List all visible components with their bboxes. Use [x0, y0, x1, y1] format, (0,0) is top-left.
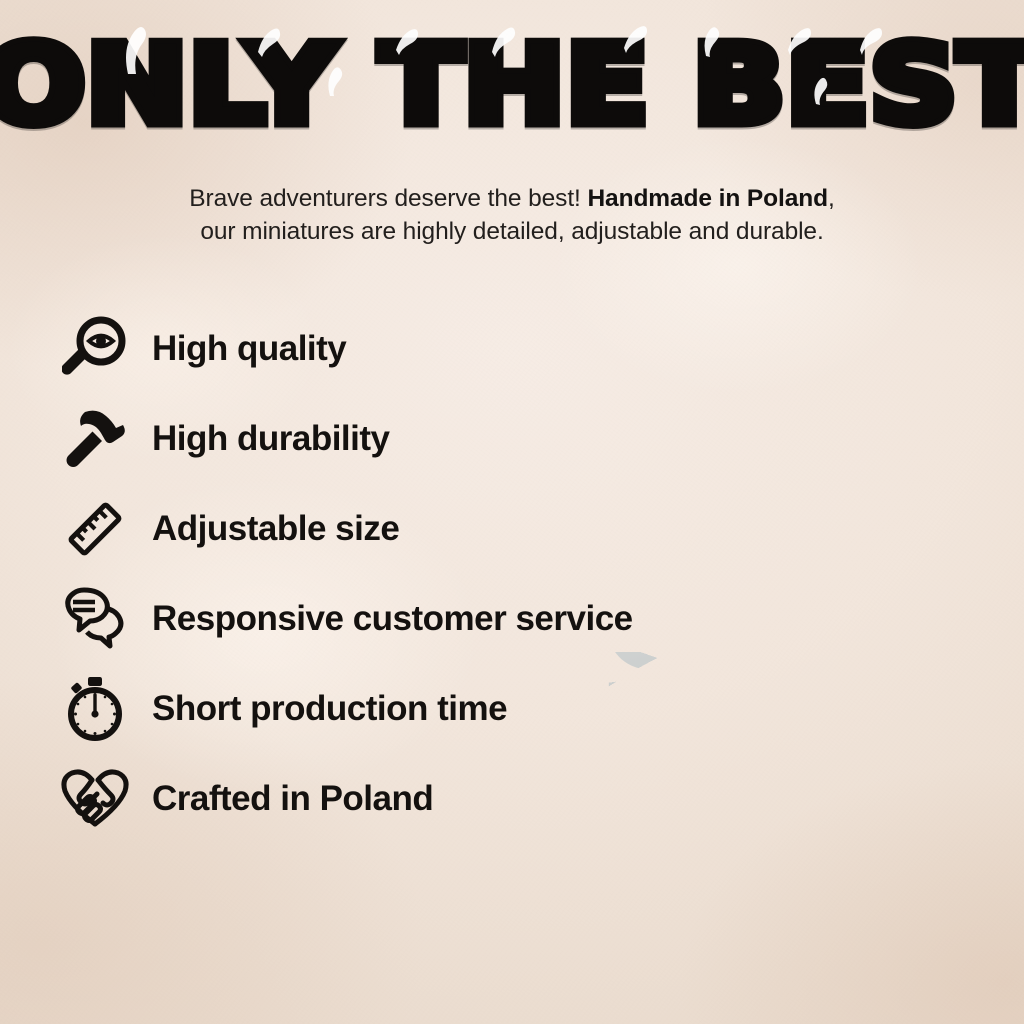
debris [896, 968, 922, 980]
speech-bubbles-icon [58, 582, 132, 656]
promo-poster: ONLY THE BEST Brave adventurers deserve … [0, 0, 1024, 1024]
feature-label: High durability [152, 419, 390, 459]
subtitle-tail: , [828, 185, 835, 212]
ruler-icon [58, 492, 132, 566]
flexing-miniature-photo [520, 278, 1024, 608]
tray-contents [853, 695, 993, 715]
painting-miniature-photo-content [596, 652, 1024, 1024]
headline-container: ONLY THE BEST [0, 34, 1024, 138]
hammer-icon [58, 402, 132, 476]
handshake-heart-icon [58, 762, 132, 836]
workshop-scene [596, 652, 1024, 1024]
subtitle-lead: Brave adventurers deserve the best! [189, 185, 587, 212]
magnifier-eye-icon [58, 312, 132, 386]
subtitle-emphasis: Handmade in Poland [587, 185, 828, 212]
dragon-miniature [708, 740, 858, 868]
subtitle-line2: our miniatures are highly detailed, adju… [200, 218, 823, 245]
feature-label: Crafted in Poland [152, 779, 433, 819]
stopwatch-icon [58, 672, 132, 746]
subtitle: Brave adventurers deserve the best! Hand… [0, 183, 1024, 248]
feature-label: Short production time [152, 689, 507, 729]
page-title: ONLY THE BEST [0, 34, 1024, 138]
feature-label: Adjustable size [152, 509, 399, 549]
feature-label: High quality [152, 329, 346, 369]
flexing-miniature-photo-content [520, 278, 1024, 608]
debris [978, 948, 998, 959]
miniature-tray [848, 692, 998, 718]
debris [940, 934, 956, 944]
painting-miniature-photo [596, 652, 1024, 1024]
